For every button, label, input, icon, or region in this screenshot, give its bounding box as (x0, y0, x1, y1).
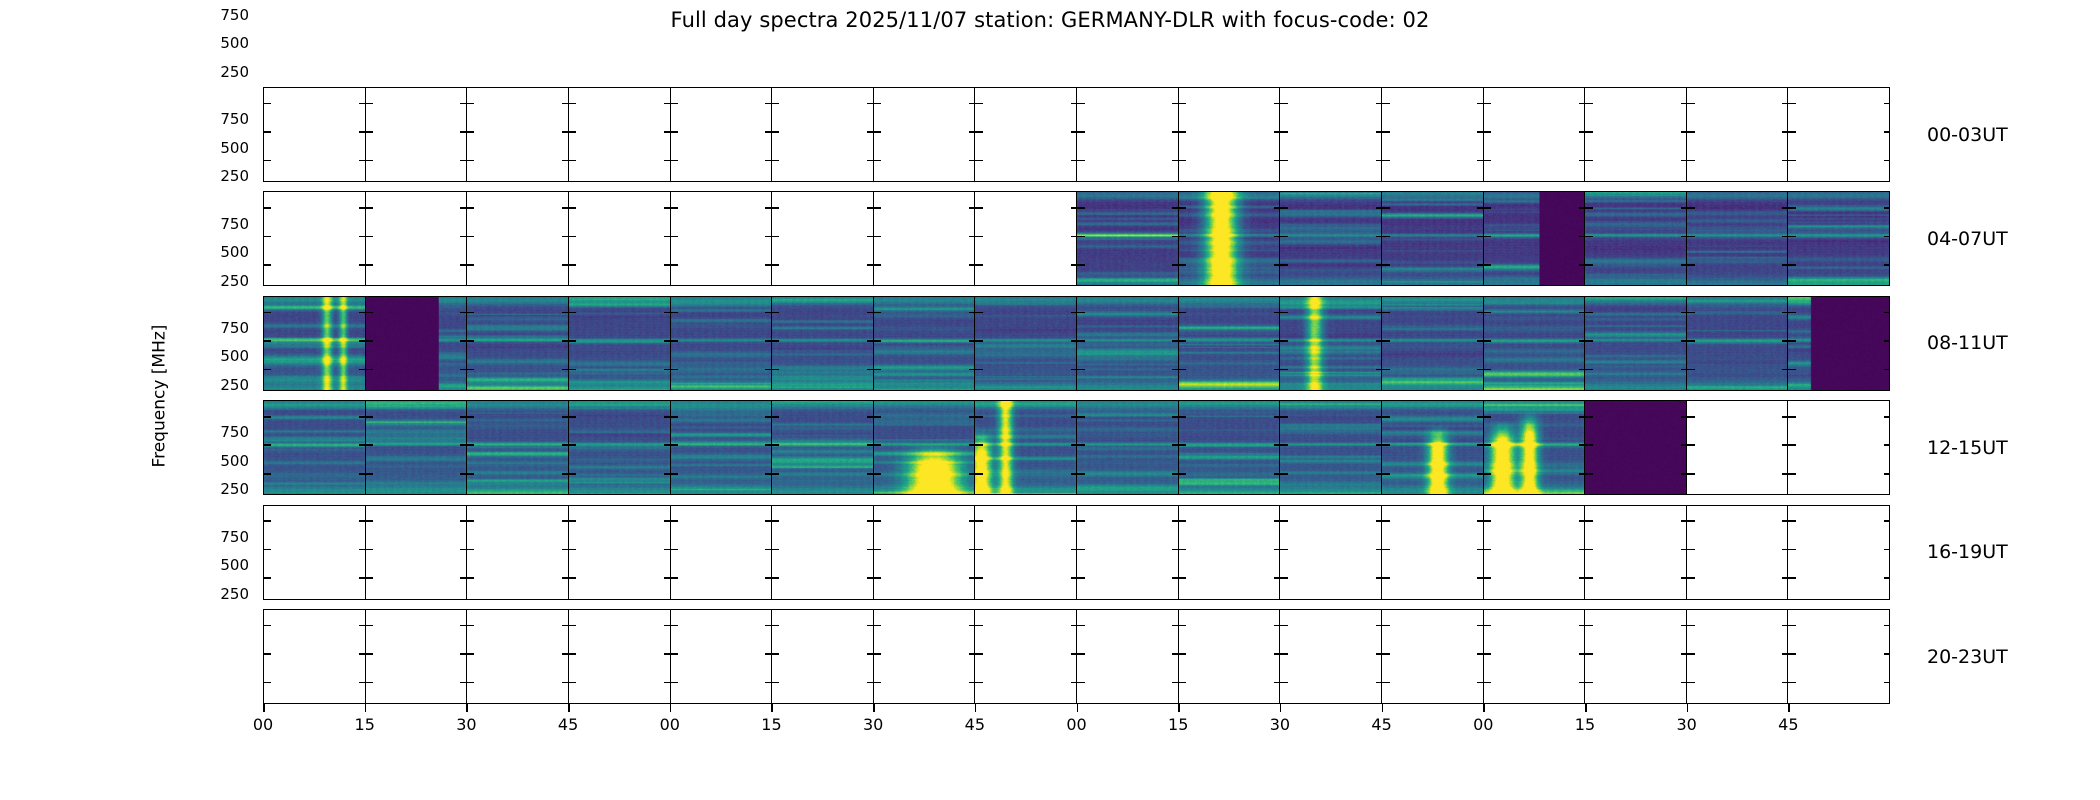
y-tick-mark (1376, 520, 1383, 522)
spectra-image (1077, 401, 1178, 494)
y-tick-mark (969, 625, 976, 627)
y-tick-mark (264, 160, 271, 162)
y-tick-mark (1376, 103, 1383, 105)
y-tick-mark (1484, 520, 1491, 522)
y-tick-mark (1789, 236, 1796, 238)
empty-panel (569, 506, 671, 599)
y-tick-mark (874, 264, 881, 266)
y-tick-mark (772, 577, 779, 579)
empty-panel (1077, 506, 1179, 599)
y-tick-mark (1179, 312, 1186, 314)
y-tick-mark (1281, 520, 1288, 522)
y-tick-mark (671, 653, 678, 655)
y-tick-mark (1172, 340, 1179, 342)
y-tick-mark (772, 369, 779, 371)
y-tick-mark (867, 473, 874, 475)
y-tick-mark (1071, 577, 1078, 579)
empty-panel (1585, 88, 1687, 181)
spectra-image (772, 297, 873, 390)
y-tick-mark (1172, 682, 1179, 684)
spectra-image (1585, 192, 1686, 285)
y-tick-mark (671, 444, 678, 446)
y-tick-mark (1383, 236, 1390, 238)
y-tick-mark (1078, 444, 1085, 446)
spectra-image (671, 401, 772, 494)
y-tick-mark (1484, 160, 1491, 162)
x-tick-label: 45 (1778, 715, 1798, 734)
empty-panel (1585, 506, 1687, 599)
spectra-panel (1382, 192, 1484, 285)
y-tick-mark (1586, 103, 1593, 105)
spectra-image (264, 297, 365, 390)
x-tick-mark (1788, 704, 1790, 712)
y-tick-mark (874, 549, 881, 551)
y-tick-mark (1579, 236, 1586, 238)
y-tick-mark (1071, 160, 1078, 162)
y-tick-mark (1586, 207, 1593, 209)
y-tick-mark (1172, 520, 1179, 522)
y-tick-mark (874, 340, 881, 342)
spectrogram-row-00-03ut (263, 87, 1890, 182)
y-tick-mark (1078, 131, 1085, 133)
y-tick-mark (1688, 369, 1695, 371)
y-tick-mark (867, 416, 874, 418)
y-tick-mark (1376, 577, 1383, 579)
y-tick-mark (1281, 236, 1288, 238)
y-tick-mark (1281, 264, 1288, 266)
x-tick-mark (1178, 704, 1180, 712)
y-tick-mark (874, 625, 881, 627)
y-tick-mark (1172, 416, 1179, 418)
spectra-panel (1179, 297, 1281, 390)
y-tick-mark (1579, 682, 1586, 684)
y-tick-mark (467, 236, 474, 238)
spectra-panel (1280, 401, 1382, 494)
y-tick-mark (569, 340, 576, 342)
empty-panel (467, 610, 569, 703)
spectra-image (1077, 192, 1178, 285)
empty-panel (1788, 506, 1889, 599)
y-tick-mark (1179, 264, 1186, 266)
y-tick-mark (1789, 625, 1796, 627)
y-tick-mark (1484, 369, 1491, 371)
y-tick-mark (1586, 653, 1593, 655)
y-tick-mark (562, 577, 569, 579)
y-tick-label: 500 (220, 243, 249, 261)
y-tick-mark (976, 369, 983, 371)
y-tick-mark (1071, 444, 1078, 446)
y-tick-mark (1484, 236, 1491, 238)
y-tick-mark (976, 416, 983, 418)
y-tick-mark (1179, 444, 1186, 446)
y-tick-mark (467, 653, 474, 655)
x-tick-mark (1585, 704, 1587, 712)
y-tick-mark (460, 207, 467, 209)
y-tick-mark (1586, 625, 1593, 627)
y-tick-mark (1579, 625, 1586, 627)
y-tick-mark (1376, 207, 1383, 209)
x-tick-label: 00 (660, 715, 680, 734)
y-tick-label: 750 (220, 423, 249, 441)
y-tick-mark (1789, 520, 1796, 522)
y-tick-mark (874, 444, 881, 446)
y-tick-mark (1782, 131, 1789, 133)
spectra-image (366, 401, 467, 494)
y-tick-mark (460, 369, 467, 371)
y-tick-mark (765, 473, 772, 475)
y-tick-mark (765, 312, 772, 314)
y-tick-mark (1274, 625, 1281, 627)
y-tick-mark (366, 549, 373, 551)
spectra-image (874, 401, 975, 494)
y-tick-mark (1681, 682, 1688, 684)
spectra-panel (975, 401, 1077, 494)
y-tick-mark (765, 264, 772, 266)
y-tick-mark (1484, 549, 1491, 551)
spectra-panel (1280, 192, 1382, 285)
y-tick-mark (1274, 416, 1281, 418)
y-tick-label: 500 (220, 452, 249, 470)
y-tick-mark (772, 160, 779, 162)
y-tick-label: 500 (220, 139, 249, 157)
y-tick-mark (671, 264, 678, 266)
empty-panel (772, 506, 874, 599)
y-tick-mark (1376, 340, 1383, 342)
y-tick-mark (1579, 549, 1586, 551)
y-tick-mark (460, 312, 467, 314)
y-tick-mark (1179, 207, 1186, 209)
y-tick-mark (1789, 444, 1796, 446)
y-tick-mark (467, 207, 474, 209)
spectra-panel (975, 297, 1077, 390)
y-tick-mark (1179, 577, 1186, 579)
y-tick-mark (664, 236, 671, 238)
y-tick-mark (1477, 160, 1484, 162)
x-tick-label: 00 (1473, 715, 1493, 734)
y-tick-mark (1078, 549, 1085, 551)
spectra-image (1788, 297, 1889, 390)
y-tick-mark (1688, 264, 1695, 266)
empty-panel (1280, 610, 1382, 703)
row-time-label: 00-03UT (1927, 124, 2008, 146)
x-tick-label: 15 (761, 715, 781, 734)
spectra-panel (1484, 192, 1586, 285)
x-tick-label: 00 (253, 715, 273, 734)
y-tick-mark (366, 473, 373, 475)
y-tick-mark (569, 103, 576, 105)
spectra-panel (874, 297, 976, 390)
y-tick-mark (969, 207, 976, 209)
y-tick-mark (1688, 207, 1695, 209)
x-tick-label: 30 (1676, 715, 1696, 734)
y-tick-label: 500 (220, 347, 249, 365)
y-tick-mark (1281, 312, 1288, 314)
y-tick-mark (1789, 207, 1796, 209)
y-tick-mark (1383, 131, 1390, 133)
x-tick-mark (263, 704, 265, 712)
y-tick-mark (467, 264, 474, 266)
y-tick-mark (1383, 416, 1390, 418)
y-tick-mark (1884, 653, 1890, 655)
spectra-panel (569, 401, 671, 494)
spectra-image (772, 401, 873, 494)
empty-panel (874, 192, 976, 285)
spectra-image (1687, 192, 1788, 285)
empty-panel (1484, 506, 1586, 599)
y-tick-mark (1681, 473, 1688, 475)
empty-panel (1585, 610, 1687, 703)
spectrogram-row-04-07ut (263, 191, 1890, 286)
y-tick-mark (1071, 236, 1078, 238)
y-tick-mark (1383, 160, 1390, 162)
y-tick-mark (1071, 549, 1078, 551)
y-tick-mark (1078, 236, 1085, 238)
y-tick-mark (664, 207, 671, 209)
empty-panel (467, 192, 569, 285)
y-tick-mark (1789, 131, 1796, 133)
spectra-panel (772, 401, 874, 494)
y-tick-mark (1078, 416, 1085, 418)
y-tick-mark (1586, 549, 1593, 551)
y-tick-mark (1179, 416, 1186, 418)
y-tick-mark (867, 264, 874, 266)
x-tick-label: 15 (355, 715, 375, 734)
spectra-image (1280, 192, 1381, 285)
y-tick-label: 250 (220, 376, 249, 394)
y-tick-mark (664, 682, 671, 684)
y-tick-mark (562, 369, 569, 371)
y-tick-mark (1579, 103, 1586, 105)
spectra-panel (772, 297, 874, 390)
y-tick-mark (1782, 653, 1789, 655)
y-tick-mark (1274, 473, 1281, 475)
y-tick-mark (1477, 520, 1484, 522)
empty-panel (569, 610, 671, 703)
empty-panel (1687, 610, 1789, 703)
y-tick-mark (562, 625, 569, 627)
y-tick-mark (874, 312, 881, 314)
spectra-panel (467, 297, 569, 390)
y-tick-mark (772, 625, 779, 627)
y-tick-mark (1782, 264, 1789, 266)
y-tick-mark (467, 682, 474, 684)
y-tick-mark (1383, 207, 1390, 209)
y-tick-mark (359, 340, 366, 342)
y-tick-mark (1484, 473, 1491, 475)
y-tick-mark (569, 236, 576, 238)
y-tick-mark (664, 549, 671, 551)
y-tick-mark (765, 131, 772, 133)
y-tick-mark (1179, 520, 1186, 522)
y-tick-mark (1078, 312, 1085, 314)
y-tick-mark (1172, 207, 1179, 209)
y-tick-label: 250 (220, 167, 249, 185)
y-tick-mark (1484, 264, 1491, 266)
y-tick-mark (1688, 549, 1695, 551)
y-tick-mark (671, 131, 678, 133)
empty-panel (366, 192, 468, 285)
x-tick-mark (1687, 704, 1689, 712)
y-tick-mark (562, 103, 569, 105)
y-tick-mark (874, 577, 881, 579)
spectra-image (1280, 297, 1381, 390)
y-tick-mark (1071, 416, 1078, 418)
y-tick-mark (1274, 236, 1281, 238)
empty-panel (1179, 610, 1281, 703)
y-tick-mark (772, 549, 779, 551)
y-tick-mark (1274, 369, 1281, 371)
y-tick-mark (1579, 264, 1586, 266)
y-tick-mark (1884, 625, 1890, 627)
x-tick-label: 15 (1168, 715, 1188, 734)
y-tick-mark (460, 549, 467, 551)
empty-panel (1788, 88, 1889, 181)
y-tick-mark (366, 577, 373, 579)
plot-area (263, 87, 1890, 704)
y-tick-mark (671, 236, 678, 238)
y-tick-mark (969, 131, 976, 133)
y-tick-mark (359, 236, 366, 238)
spectra-image (874, 297, 975, 390)
spectra-panel (1585, 401, 1687, 494)
y-tick-mark (1484, 340, 1491, 342)
y-tick-mark (460, 444, 467, 446)
empty-panel (366, 506, 468, 599)
y-tick-mark (460, 473, 467, 475)
y-tick-mark (1484, 312, 1491, 314)
y-tick-mark (1172, 236, 1179, 238)
y-tick-mark (1681, 653, 1688, 655)
y-tick-mark (1376, 131, 1383, 133)
y-tick-mark (976, 520, 983, 522)
y-tick-mark (359, 312, 366, 314)
y-tick-mark (1789, 653, 1796, 655)
empty-panel (1179, 88, 1281, 181)
y-tick-mark (562, 653, 569, 655)
y-tick-mark (1789, 340, 1796, 342)
y-tick-mark (969, 264, 976, 266)
y-tick-mark (1274, 653, 1281, 655)
y-tick-mark (1884, 520, 1890, 522)
row-time-label: 08-11UT (1927, 332, 2008, 354)
y-tick-mark (1579, 160, 1586, 162)
y-tick-mark (1071, 264, 1078, 266)
spectra-image (569, 401, 670, 494)
y-tick-mark (1681, 207, 1688, 209)
spectra-image (1585, 401, 1686, 494)
spectra-panel (1484, 401, 1586, 494)
y-tick-mark (1383, 340, 1390, 342)
y-tick-mark (1078, 625, 1085, 627)
y-tick-mark (1484, 444, 1491, 446)
y-tick-mark (569, 473, 576, 475)
y-tick-mark (467, 625, 474, 627)
x-tick-mark (975, 704, 977, 712)
y-tick-mark (1274, 160, 1281, 162)
y-tick-mark (765, 682, 772, 684)
y-tick-mark (264, 473, 271, 475)
y-tick-label: 250 (220, 480, 249, 498)
y-tick-mark (772, 207, 779, 209)
y-tick-mark (671, 577, 678, 579)
y-tick-mark (1071, 625, 1078, 627)
y-tick-mark (1071, 653, 1078, 655)
spectrogram-row-16-19ut (263, 505, 1890, 600)
y-tick-mark (664, 520, 671, 522)
y-tick-mark (772, 473, 779, 475)
y-tick-mark (1484, 577, 1491, 579)
row-time-label: 04-07UT (1927, 228, 2008, 250)
x-tick-mark (568, 704, 570, 712)
y-tick-mark (460, 160, 467, 162)
y-tick-mark (359, 207, 366, 209)
y-tick-mark (867, 653, 874, 655)
y-tick-mark (671, 340, 678, 342)
empty-panel (671, 506, 773, 599)
spectra-panel (1687, 192, 1789, 285)
y-tick-mark (969, 682, 976, 684)
y-tick-mark (1477, 236, 1484, 238)
y-tick-mark (867, 103, 874, 105)
y-tick-mark (1586, 340, 1593, 342)
empty-panel (1687, 88, 1789, 181)
y-tick-mark (1782, 549, 1789, 551)
y-tick-mark (1579, 340, 1586, 342)
x-tick-label: 45 (558, 715, 578, 734)
y-tick-mark (1586, 520, 1593, 522)
y-tick-mark (569, 653, 576, 655)
y-tick-mark (562, 682, 569, 684)
y-tick-mark (1078, 103, 1085, 105)
y-tick-mark (1274, 577, 1281, 579)
empty-panel (874, 506, 976, 599)
y-tick-mark (366, 444, 373, 446)
y-tick-mark (562, 416, 569, 418)
y-tick-mark (264, 236, 271, 238)
empty-panel (467, 506, 569, 599)
empty-panel (1382, 506, 1484, 599)
y-tick-mark (1789, 682, 1796, 684)
y-tick-mark (1172, 444, 1179, 446)
y-tick-mark (1172, 160, 1179, 162)
y-tick-mark (1782, 520, 1789, 522)
y-tick-mark (1782, 160, 1789, 162)
y-tick-mark (1071, 473, 1078, 475)
y-tick-mark (1484, 682, 1491, 684)
y-tick-mark (1681, 520, 1688, 522)
y-tick-mark (569, 369, 576, 371)
y-tick-mark (765, 103, 772, 105)
y-tick-mark (772, 340, 779, 342)
y-tick-mark (467, 416, 474, 418)
spectra-image (1484, 297, 1585, 390)
y-tick-mark (366, 264, 373, 266)
y-tick-label: 500 (220, 34, 249, 52)
spectra-image (1382, 192, 1483, 285)
y-tick-mark (366, 625, 373, 627)
spectra-image (671, 297, 772, 390)
empty-panel (467, 88, 569, 181)
spectrogram-row-20-23ut (263, 609, 1890, 704)
y-tick-mark (664, 340, 671, 342)
y-tick-mark (1179, 653, 1186, 655)
y-tick-mark (664, 444, 671, 446)
y-tick-mark (359, 682, 366, 684)
y-tick-mark (460, 340, 467, 342)
y-tick-mark (569, 416, 576, 418)
x-tick-mark (466, 704, 468, 712)
empty-panel (569, 192, 671, 285)
